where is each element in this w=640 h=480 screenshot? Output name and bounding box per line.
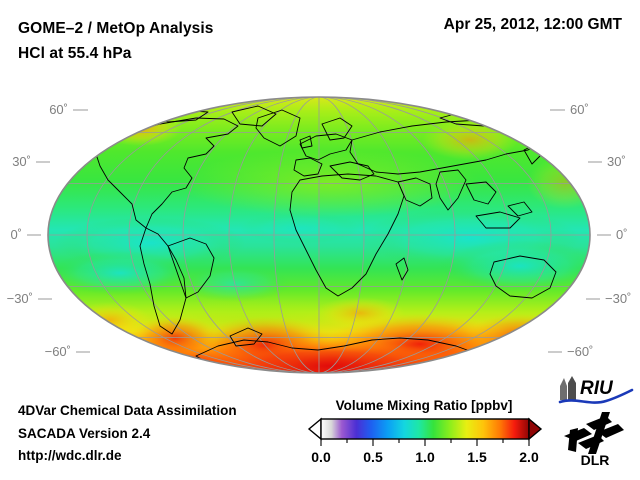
colorbar-title: Volume Mixing Ratio [ppbv] xyxy=(305,398,543,413)
riu-logo: RIU xyxy=(556,374,634,406)
version-label: SACADA Version 2.4 xyxy=(18,423,237,446)
colorbar-tick-1: 0.5 xyxy=(363,449,383,465)
dlr-wordmark: DLR xyxy=(581,452,610,468)
lat-label-left-m60: −60˚ xyxy=(45,344,71,359)
riu-wordmark: RIU xyxy=(580,378,614,399)
colorbar-tick-4: 2.0 xyxy=(519,449,539,465)
colorbar-extend-high xyxy=(529,419,541,439)
lat-label-left-m30: −30˚ xyxy=(7,291,33,306)
dlr-logo: DLR xyxy=(562,410,628,468)
dlr-mark-icon xyxy=(564,412,624,454)
lat-label-right-60: 60˚ xyxy=(570,102,589,117)
lat-label-right-m30: −30˚ xyxy=(605,291,631,306)
riu-spire-icon-2 xyxy=(568,376,576,400)
website-url[interactable]: http://wdc.dlr.de xyxy=(18,445,237,468)
colorbar-ticks xyxy=(321,439,529,446)
lat-label-left-30: 30˚ xyxy=(12,154,31,169)
lat-label-left-0: 0˚ xyxy=(10,227,22,242)
mollweide-map: 60˚ 30˚ 0˚ −30˚ −60˚ 60˚ 30˚ 0˚ −30˚ −60… xyxy=(0,88,640,384)
lat-label-right-m60: −60˚ xyxy=(567,344,593,359)
header-title-block: GOME–2 / MetOp Analysis HCl at 55.4 hPa xyxy=(18,16,214,66)
footer-text-block: 4DVar Chemical Data Assimilation SACADA … xyxy=(18,400,237,468)
colorbar-tick-3: 1.5 xyxy=(467,449,487,465)
colorbar-tick-0: 0.0 xyxy=(311,449,331,465)
species-level-title: HCl at 55.4 hPa xyxy=(18,41,214,66)
colorbar-extend-low xyxy=(309,419,321,439)
lat-label-right-30: 30˚ xyxy=(607,154,626,169)
assimilation-method-label: 4DVar Chemical Data Assimilation xyxy=(18,400,237,423)
colorbar-gradient xyxy=(321,419,529,439)
map-panel: 60˚ 30˚ 0˚ −30˚ −60˚ 60˚ 30˚ 0˚ −30˚ −60… xyxy=(0,88,640,384)
lat-label-left-60: 60˚ xyxy=(49,102,68,117)
colorbar-scale: 0.0 0.5 1.0 1.5 2.0 xyxy=(305,417,550,477)
colorbar: Volume Mixing Ratio [ppbv] xyxy=(305,398,550,477)
lat-label-right-0: 0˚ xyxy=(616,227,628,242)
header-datetime: Apr 25, 2012, 12:00 GMT xyxy=(444,16,622,34)
riu-spire-icon xyxy=(560,378,567,400)
colorbar-tick-2: 1.0 xyxy=(415,449,435,465)
hcl-data-field xyxy=(48,97,603,384)
instrument-title: GOME–2 / MetOp Analysis xyxy=(18,16,214,41)
